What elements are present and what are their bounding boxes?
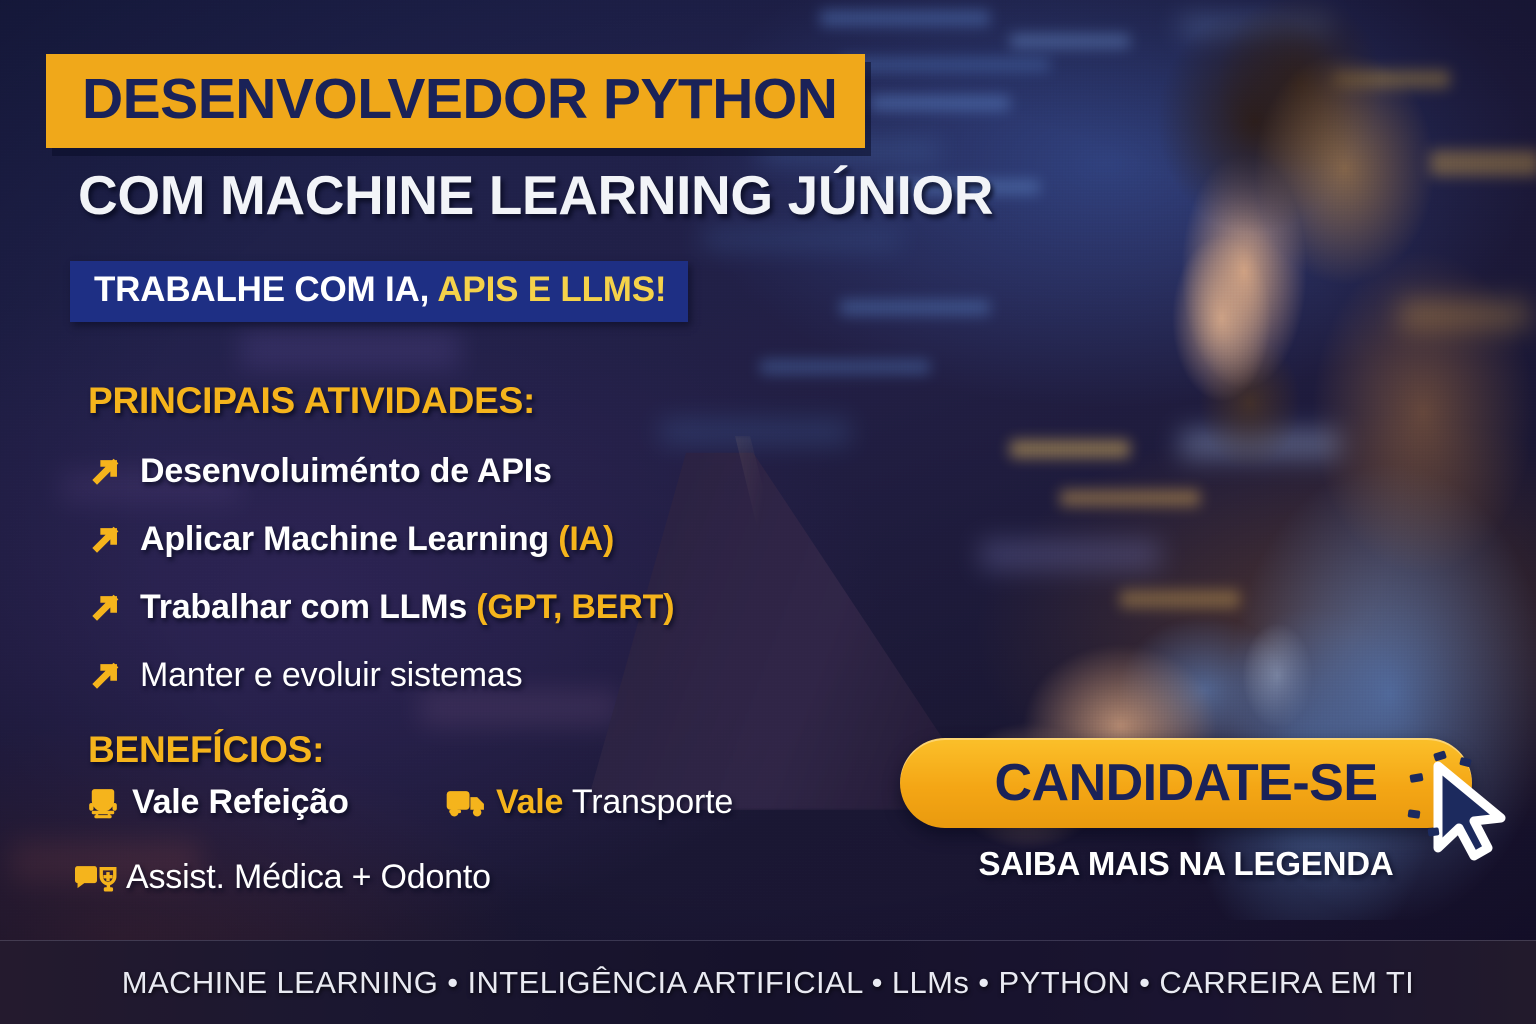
apply-button-label: CANDIDATE-SE [994,753,1377,813]
footer-bar: MACHINE LEARNING • INTELIGÊNCIA ARTIFICI… [0,940,1536,1024]
benefit-item-meal: Vale Refeição [80,783,349,822]
arrow-up-right-icon [88,656,130,694]
activity-label-text: Trabalhar com LLMs [140,588,476,626]
medical-dental-icon [74,861,120,895]
footer-tagline: MACHINE LEARNING • INTELIGÊNCIA ARTIFICI… [122,965,1414,1001]
benefit-label-text: Assist. Médica + Odonto [126,858,491,896]
benefit-label-text: Vale Refeição [132,783,349,821]
benefit-label: Assist. Médica + Odonto [126,858,491,897]
activity-item: Aplicar Machine Learning (IA) [88,508,674,570]
benefit-label-text: Transporte [563,783,733,821]
arrow-up-right-icon [88,520,130,558]
activity-label-highlight: (GPT, BERT) [476,588,674,626]
activity-label-highlight: (IA) [558,520,614,558]
activities-list: Desenvoluiménto de APIsAplicar Machine L… [88,440,674,712]
benefit-item-medical: Assist. Médica + Odonto [74,858,491,897]
transport-van-icon [444,786,490,820]
job-title: DESENVOLVEDOR PYTHON [82,66,837,132]
benefit-label: Vale Refeição [132,783,349,822]
activity-item: Trabalhar com LLMs (GPT, BERT) [88,576,674,638]
activity-label-text: Manter e evoluir sistemas [140,656,522,694]
tagline-box: TRABALHE COM IA, APIS E LLMS! [70,261,688,322]
benefit-label: Vale Transporte [496,783,733,822]
meal-voucher-icon [80,784,126,822]
activity-label-text: Desenvoluiménto de APIs [140,452,552,490]
activity-label-text: Aplicar Machine Learning [140,520,558,558]
job-title-banner: DESENVOLVEDOR PYTHON [46,54,865,148]
activity-label: Desenvoluiménto de APIs [140,452,552,491]
activities-heading: PRINCIPAIS ATIVIDADES: [88,380,535,422]
activity-item: Manter e evoluir sistemas [88,644,674,706]
apply-subtext: SAIBA MAIS NA LEGENDA [900,845,1472,883]
apply-button[interactable]: CANDIDATE-SE [900,738,1472,828]
activity-item: Desenvoluiménto de APIs [88,440,674,502]
activity-label: Manter e evoluir sistemas [140,656,522,695]
tagline-prefix: TRABALHE COM IA, [94,270,437,309]
activity-label: Aplicar Machine Learning (IA) [140,520,614,559]
benefit-label-highlight: Vale [496,783,563,821]
job-subtitle: COM MACHINE LEARNING JÚNIOR [78,163,993,227]
arrow-up-right-icon [88,452,130,490]
job-ad-poster: DESENVOLVEDOR PYTHON COM MACHINE LEARNIN… [0,0,1536,1024]
arrow-up-right-icon [88,588,130,626]
tagline-highlight: APIS E LLMS! [437,270,666,309]
benefit-item-transport: Vale Transporte [444,783,733,822]
benefits-heading: BENEFÍCIOS: [88,729,324,771]
activity-label: Trabalhar com LLMs (GPT, BERT) [140,588,674,627]
tagline: TRABALHE COM IA, APIS E LLMS! [94,270,666,310]
